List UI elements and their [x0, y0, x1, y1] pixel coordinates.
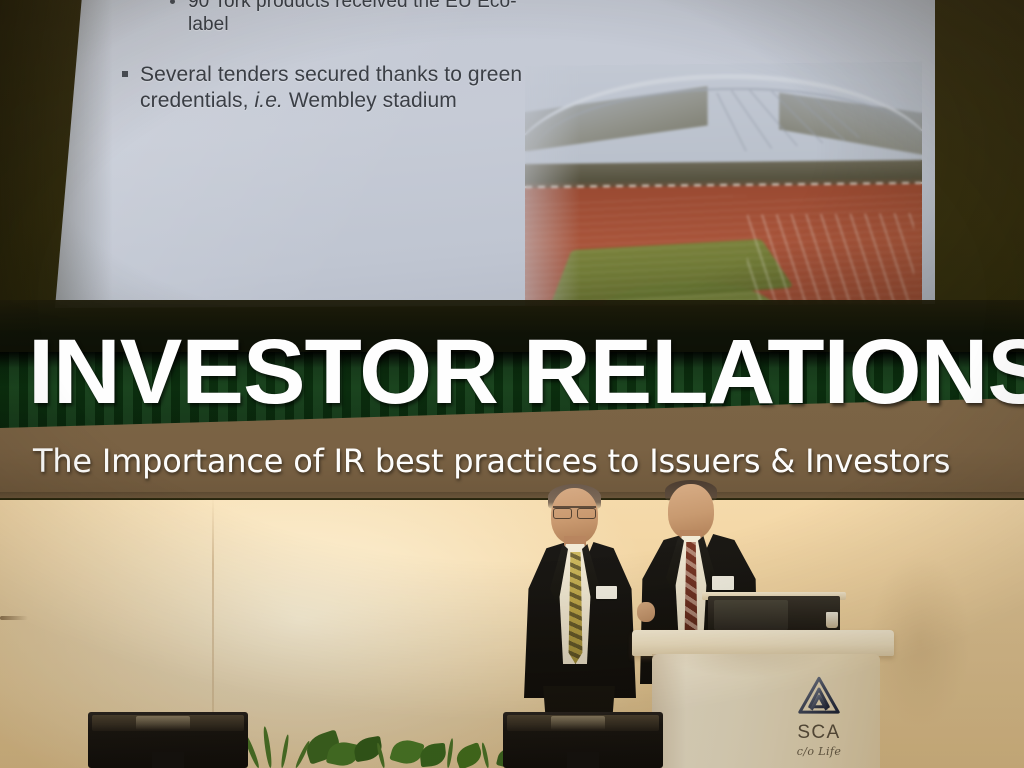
stadium-edge-blur: [525, 62, 922, 310]
speaker-tie: [568, 552, 583, 664]
wall-panel-seam: [212, 495, 214, 725]
page-subtitle: The Importance of IR best practices to I…: [33, 443, 1008, 479]
speaker-hand: [637, 602, 655, 622]
sca-logo: SCA c/o Life: [780, 676, 858, 756]
slide-bullet-list: 90 Tork products received the EU Eco-lab…: [120, 0, 540, 114]
monitor-glow: [136, 716, 190, 730]
wembley-stadium-photo: [525, 62, 922, 310]
lectern-monitor: [714, 600, 788, 630]
slide-bullet-main: Several tenders secured thanks to green …: [120, 62, 540, 114]
subtitle-band-edge: [0, 492, 1024, 500]
lectern-top: [632, 630, 894, 656]
name-badge: [596, 586, 617, 599]
bullet-text-after: Wembley stadium: [283, 89, 457, 112]
water-glass: [826, 612, 838, 628]
sca-triangle-icon: [796, 676, 842, 716]
presentation-photo-slide: 90 Tork products received the EU Eco-lab…: [0, 0, 1024, 768]
bullet-text-italic: i.e.: [255, 89, 283, 112]
sca-brand-text: SCA: [780, 722, 858, 744]
monitor-glow: [551, 716, 605, 730]
name-badge: [712, 576, 734, 590]
monitor-stand: [567, 752, 599, 768]
projection-screen: 90 Tork products received the EU Eco-lab…: [0, 0, 935, 312]
foreground-monitor-center: [503, 712, 663, 768]
sca-tagline: c/o Life: [780, 745, 858, 758]
foreground-monitor-left: [88, 712, 248, 768]
wall-ledge: [0, 616, 28, 620]
eyeglasses-icon: [553, 506, 596, 517]
slide-bullet-sub: 90 Tork products received the EU Eco-lab…: [166, 0, 540, 36]
monitor-stand: [152, 752, 184, 768]
page-title: INVESTOR RELATIONS: [28, 326, 1024, 418]
